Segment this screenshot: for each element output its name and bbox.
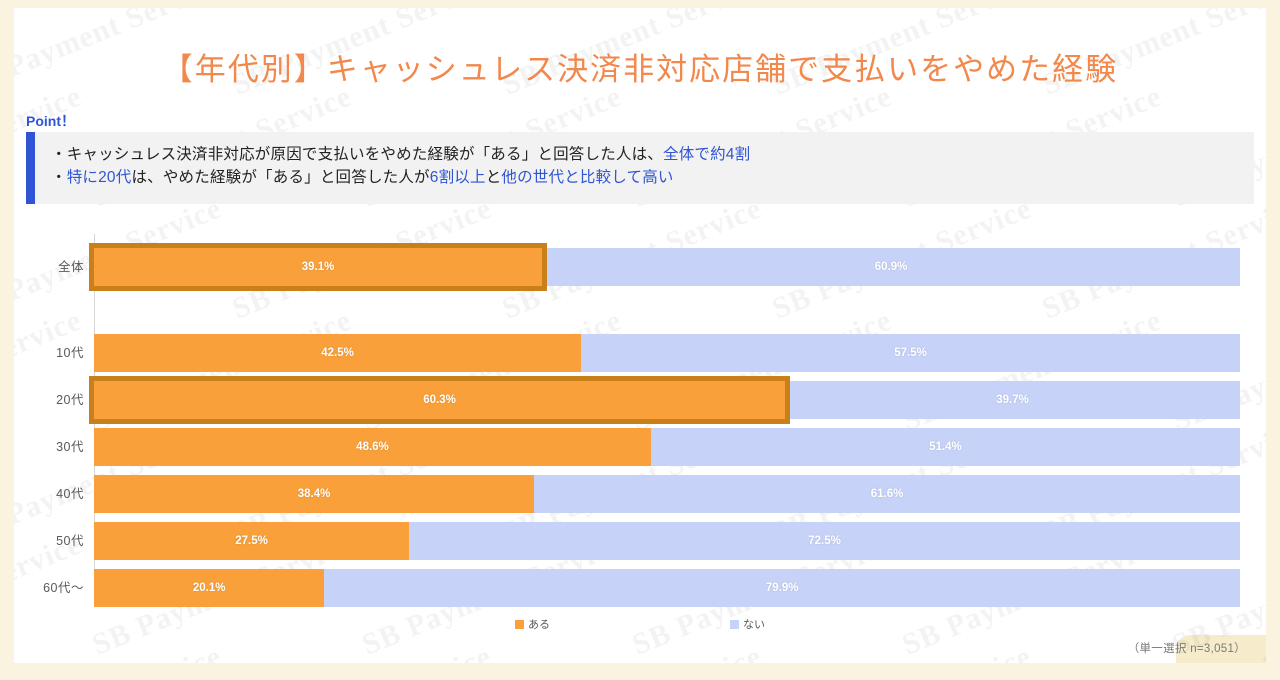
chart-row-label: 30代: [14, 428, 84, 466]
page-title: 【年代別】キャッシュレス決済非対応店舗で支払いをやめた経験: [14, 44, 1266, 89]
watermark-text: SB Payment Service: [228, 639, 497, 663]
watermark-text: SB Payment Service: [498, 639, 767, 663]
chart-bar-track: 20.1%79.9%: [94, 569, 1240, 607]
watermark-text: SB Payment Service: [768, 639, 1037, 663]
legend-label: ない: [743, 616, 765, 632]
point-bullet-1-highlight: 全体で約4割: [663, 146, 750, 163]
point-bullet-2-highlight-1: 特に20代: [67, 169, 132, 186]
bar-segment-no: 61.6%: [534, 475, 1240, 513]
chart-bar-track: 48.6%51.4%: [94, 428, 1240, 466]
chart-bar-track: 38.4%61.6%: [94, 475, 1240, 513]
legend-label: ある: [528, 616, 550, 632]
chart-row: 40代38.4%61.6%: [14, 475, 1266, 513]
point-bullet-2-marker: ・: [51, 169, 67, 186]
chart-row-label: 全体: [14, 248, 84, 286]
point-bullet-2-highlight-3: 他の世代と比較して高い: [501, 169, 673, 186]
bar-segment-no: 51.4%: [651, 428, 1240, 466]
bar-segment-no: 72.5%: [409, 522, 1240, 560]
bar-segment-yes: 20.1%: [94, 569, 324, 607]
point-bullet-2-highlight-2: 6割以上: [430, 169, 486, 186]
chart-row: 全体39.1%60.9%: [14, 248, 1266, 286]
point-label: Point！: [26, 111, 75, 131]
chart-footnote: （単一選択 n=3,051）: [1128, 640, 1246, 656]
chart-row-label: 20代: [14, 381, 84, 419]
chart-row: 30代48.6%51.4%: [14, 428, 1266, 466]
chart-bar-track: 60.3%39.7%: [94, 381, 1240, 419]
bar-segment-yes: 27.5%: [94, 522, 409, 560]
point-bullet-2-text: は、やめた経験が「ある」と回答した人が: [131, 169, 429, 186]
point-bullet-1: ・キャッシュレス決済非対応が原因で支払いをやめた経験が「ある」と回答した人は、全…: [51, 143, 1254, 166]
chart-bar-track: 27.5%72.5%: [94, 522, 1240, 560]
chart-row-label: 50代: [14, 522, 84, 560]
bar-segment-yes: 39.1%: [94, 248, 542, 286]
chart-row: 20代60.3%39.7%: [14, 381, 1266, 419]
chart-row: 10代42.5%57.5%: [14, 334, 1266, 372]
chart-bar-track: 39.1%60.9%: [94, 248, 1240, 286]
stacked-bar-chart: 全体39.1%60.9%10代42.5%57.5%20代60.3%39.7%30…: [14, 224, 1266, 624]
point-bullet-2: ・特に20代は、やめた経験が「ある」と回答した人が6割以上と他の世代と比較して高…: [51, 166, 1254, 189]
bar-segment-no: 79.9%: [324, 569, 1240, 607]
legend-item: ある: [515, 616, 550, 632]
slide-canvas: SB Payment ServiceSB Payment ServiceSB P…: [14, 8, 1266, 663]
chart-legend: あるない: [14, 616, 1266, 632]
bar-segment-no: 60.9%: [542, 248, 1240, 286]
point-box: ・キャッシュレス決済非対応が原因で支払いをやめた経験が「ある」と回答した人は、全…: [26, 132, 1254, 204]
chart-row-label: 40代: [14, 475, 84, 513]
bar-segment-yes: 42.5%: [94, 334, 581, 372]
chart-row: 60代～20.1%79.9%: [14, 569, 1266, 607]
point-bullet-2-conj: と: [486, 169, 502, 186]
bar-segment-no: 39.7%: [785, 381, 1240, 419]
bar-segment-yes: 60.3%: [94, 381, 785, 419]
legend-item: ない: [730, 616, 765, 632]
chart-bar-track: 42.5%57.5%: [94, 334, 1240, 372]
chart-row-label: 10代: [14, 334, 84, 372]
watermark-text: SB Payment Service: [14, 639, 227, 663]
chart-row: 50代27.5%72.5%: [14, 522, 1266, 560]
point-bullet-1-text: ・キャッシュレス決済非対応が原因で支払いをやめた経験が「ある」と回答した人は、: [51, 146, 663, 163]
legend-swatch-icon: [730, 620, 739, 629]
bar-segment-no: 57.5%: [581, 334, 1240, 372]
bar-segment-yes: 38.4%: [94, 475, 534, 513]
bar-segment-yes: 48.6%: [94, 428, 651, 466]
legend-swatch-icon: [515, 620, 524, 629]
chart-row-label: 60代～: [14, 569, 84, 607]
